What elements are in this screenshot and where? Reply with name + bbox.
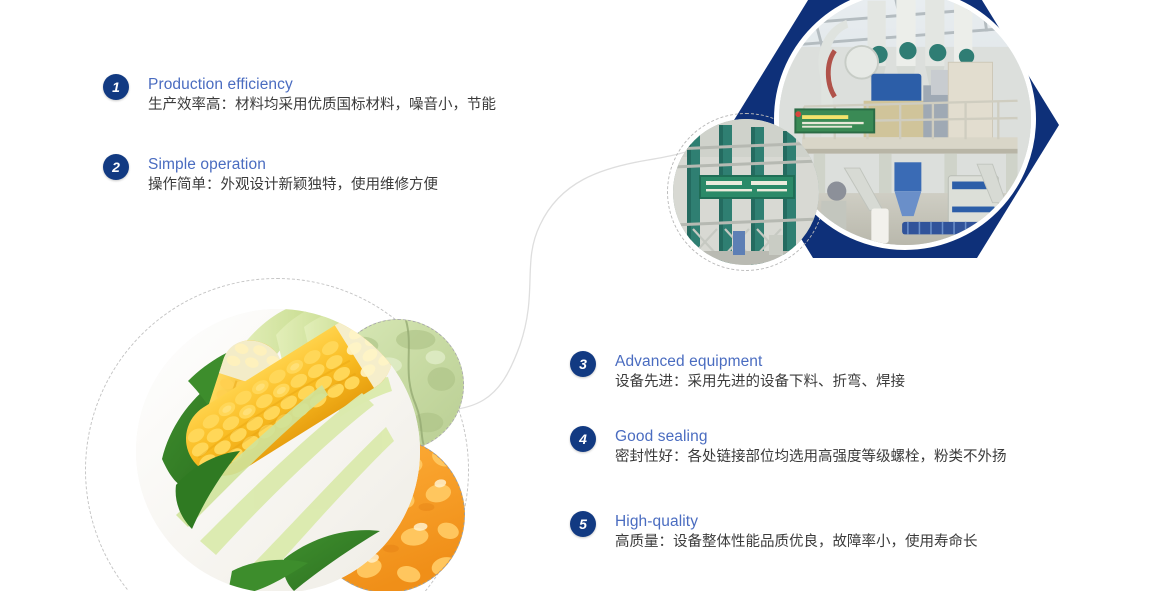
feature-desc-3: 设备先进：采用先进的设备下料、折弯、焊接 xyxy=(615,372,905,393)
feature-text-2: Simple operation 操作简单：外观设计新颖独特，使用维修方便 xyxy=(148,154,438,196)
feature-title-5: High-quality xyxy=(615,512,978,531)
infographic-page: 1 Production efficiency 生产效率高：材料均采用优质国标材… xyxy=(0,0,1154,591)
corn-main-photo xyxy=(136,309,420,591)
feature-desc-4: 密封性好：各处链接部位均选用高强度等级螺栓，粉类不外扬 xyxy=(615,447,1007,468)
hexagon-small-photo xyxy=(673,119,819,265)
feature-text-5: High-quality 高质量：设备整体性能品质优良，故障率小，使用寿命长 xyxy=(615,511,978,553)
feature-desc-2: 操作简单：外观设计新颖独特，使用维修方便 xyxy=(148,175,438,196)
feature-text-4: Good sealing 密封性好：各处链接部位均选用高强度等级螺栓，粉类不外扬 xyxy=(615,426,1007,468)
feature-desc-5: 高质量：设备整体性能品质优良，故障率小，使用寿命长 xyxy=(615,532,978,553)
feature-item-3[interactable]: 3 Advanced equipment 设备先进：采用先进的设备下料、折弯、焊… xyxy=(570,351,905,393)
feature-text-1: Production efficiency 生产效率高：材料均采用优质国标材料，… xyxy=(148,74,496,116)
feature-badge-5: 5 xyxy=(570,511,596,537)
feature-title-1: Production efficiency xyxy=(148,75,496,94)
feature-item-5[interactable]: 5 High-quality 高质量：设备整体性能品质优良，故障率小，使用寿命长 xyxy=(570,511,978,553)
feature-text-3: Advanced equipment 设备先进：采用先进的设备下料、折弯、焊接 xyxy=(615,351,905,393)
feature-title-3: Advanced equipment xyxy=(615,352,905,371)
feature-badge-3: 3 xyxy=(570,351,596,377)
feature-title-2: Simple operation xyxy=(148,155,438,174)
feature-item-1[interactable]: 1 Production efficiency 生产效率高：材料均采用优质国标材… xyxy=(103,74,496,116)
feature-badge-4: 4 xyxy=(570,426,596,452)
feature-desc-1: 生产效率高：材料均采用优质国标材料，噪音小，节能 xyxy=(148,95,496,116)
feature-item-4[interactable]: 4 Good sealing 密封性好：各处链接部位均选用高强度等级螺栓，粉类不… xyxy=(570,426,1007,468)
corn-photo-group xyxy=(80,275,480,591)
feature-badge-2: 2 xyxy=(103,154,129,180)
hexagon-photo-group xyxy=(655,0,1065,267)
feature-item-2[interactable]: 2 Simple operation 操作简单：外观设计新颖独特，使用维修方便 xyxy=(103,154,438,196)
feature-badge-1: 1 xyxy=(103,74,129,100)
feature-title-4: Good sealing xyxy=(615,427,1007,446)
